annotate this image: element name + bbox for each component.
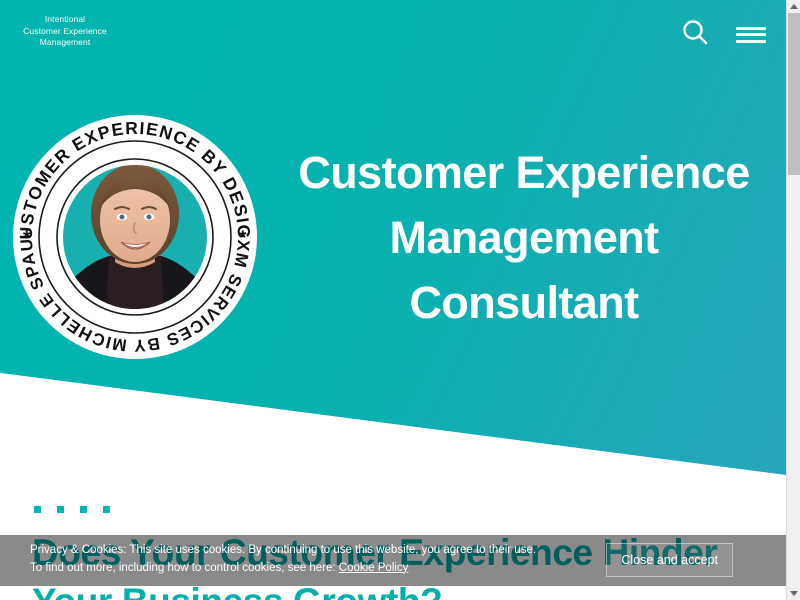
cookie-text-line-2: To find out more, including how to contr… (30, 562, 339, 574)
decorative-dot (57, 506, 64, 513)
search-icon[interactable] (680, 17, 710, 52)
vertical-scrollbar[interactable] (786, 0, 800, 600)
scroll-down-arrow[interactable] (787, 587, 800, 600)
site-header: Intentional Customer Experience Manageme… (0, 0, 786, 70)
logo-line-1: Intentional (22, 14, 108, 26)
hamburger-bar (736, 27, 766, 30)
hamburger-bar (736, 33, 766, 36)
hamburger-menu-icon[interactable] (736, 24, 766, 46)
hero-heading-line-1: Customer Experience (270, 140, 778, 205)
scroll-up-arrow[interactable] (787, 0, 800, 13)
scrollbar-thumb[interactable] (788, 13, 800, 175)
hamburger-bar (736, 40, 766, 43)
scroll-up-triangle-icon (790, 4, 798, 9)
cookie-text-line-1: Privacy & Cookies: This site uses cookie… (30, 544, 536, 556)
cookie-banner-text: Privacy & Cookies: This site uses cookie… (30, 542, 610, 577)
logo-line-2: Customer Experience (22, 26, 108, 38)
close-and-accept-button[interactable]: Close and accept (606, 543, 733, 577)
scroll-down-triangle-icon (790, 591, 798, 596)
logo-line-3: Management (22, 37, 108, 49)
hero-heading-line-2: Management (270, 205, 778, 270)
decorative-dot (80, 506, 87, 513)
badge-left-star: * (23, 228, 31, 249)
decorative-dot (34, 506, 41, 513)
cookie-consent-banner: Privacy & Cookies: This site uses cookie… (0, 535, 786, 586)
hero-heading-line-3: Consultant (270, 270, 778, 335)
badge-right-star: * (239, 228, 247, 249)
browser-page: Intentional Customer Experience Manageme… (0, 0, 800, 600)
hero-heading: Customer Experience Management Consultan… (270, 140, 778, 335)
decorative-dots (34, 506, 110, 513)
page-viewport: Intentional Customer Experience Manageme… (0, 0, 786, 600)
site-logo[interactable]: Intentional Customer Experience Manageme… (22, 14, 108, 49)
decorative-dot (103, 506, 110, 513)
avatar (63, 164, 207, 309)
header-icon-group (680, 17, 766, 52)
circular-badge: CUSTOMER EXPERIENCE BY DESIGN CXM SERVIC… (12, 104, 257, 364)
cookie-policy-link[interactable]: Cookie Policy (339, 562, 409, 574)
